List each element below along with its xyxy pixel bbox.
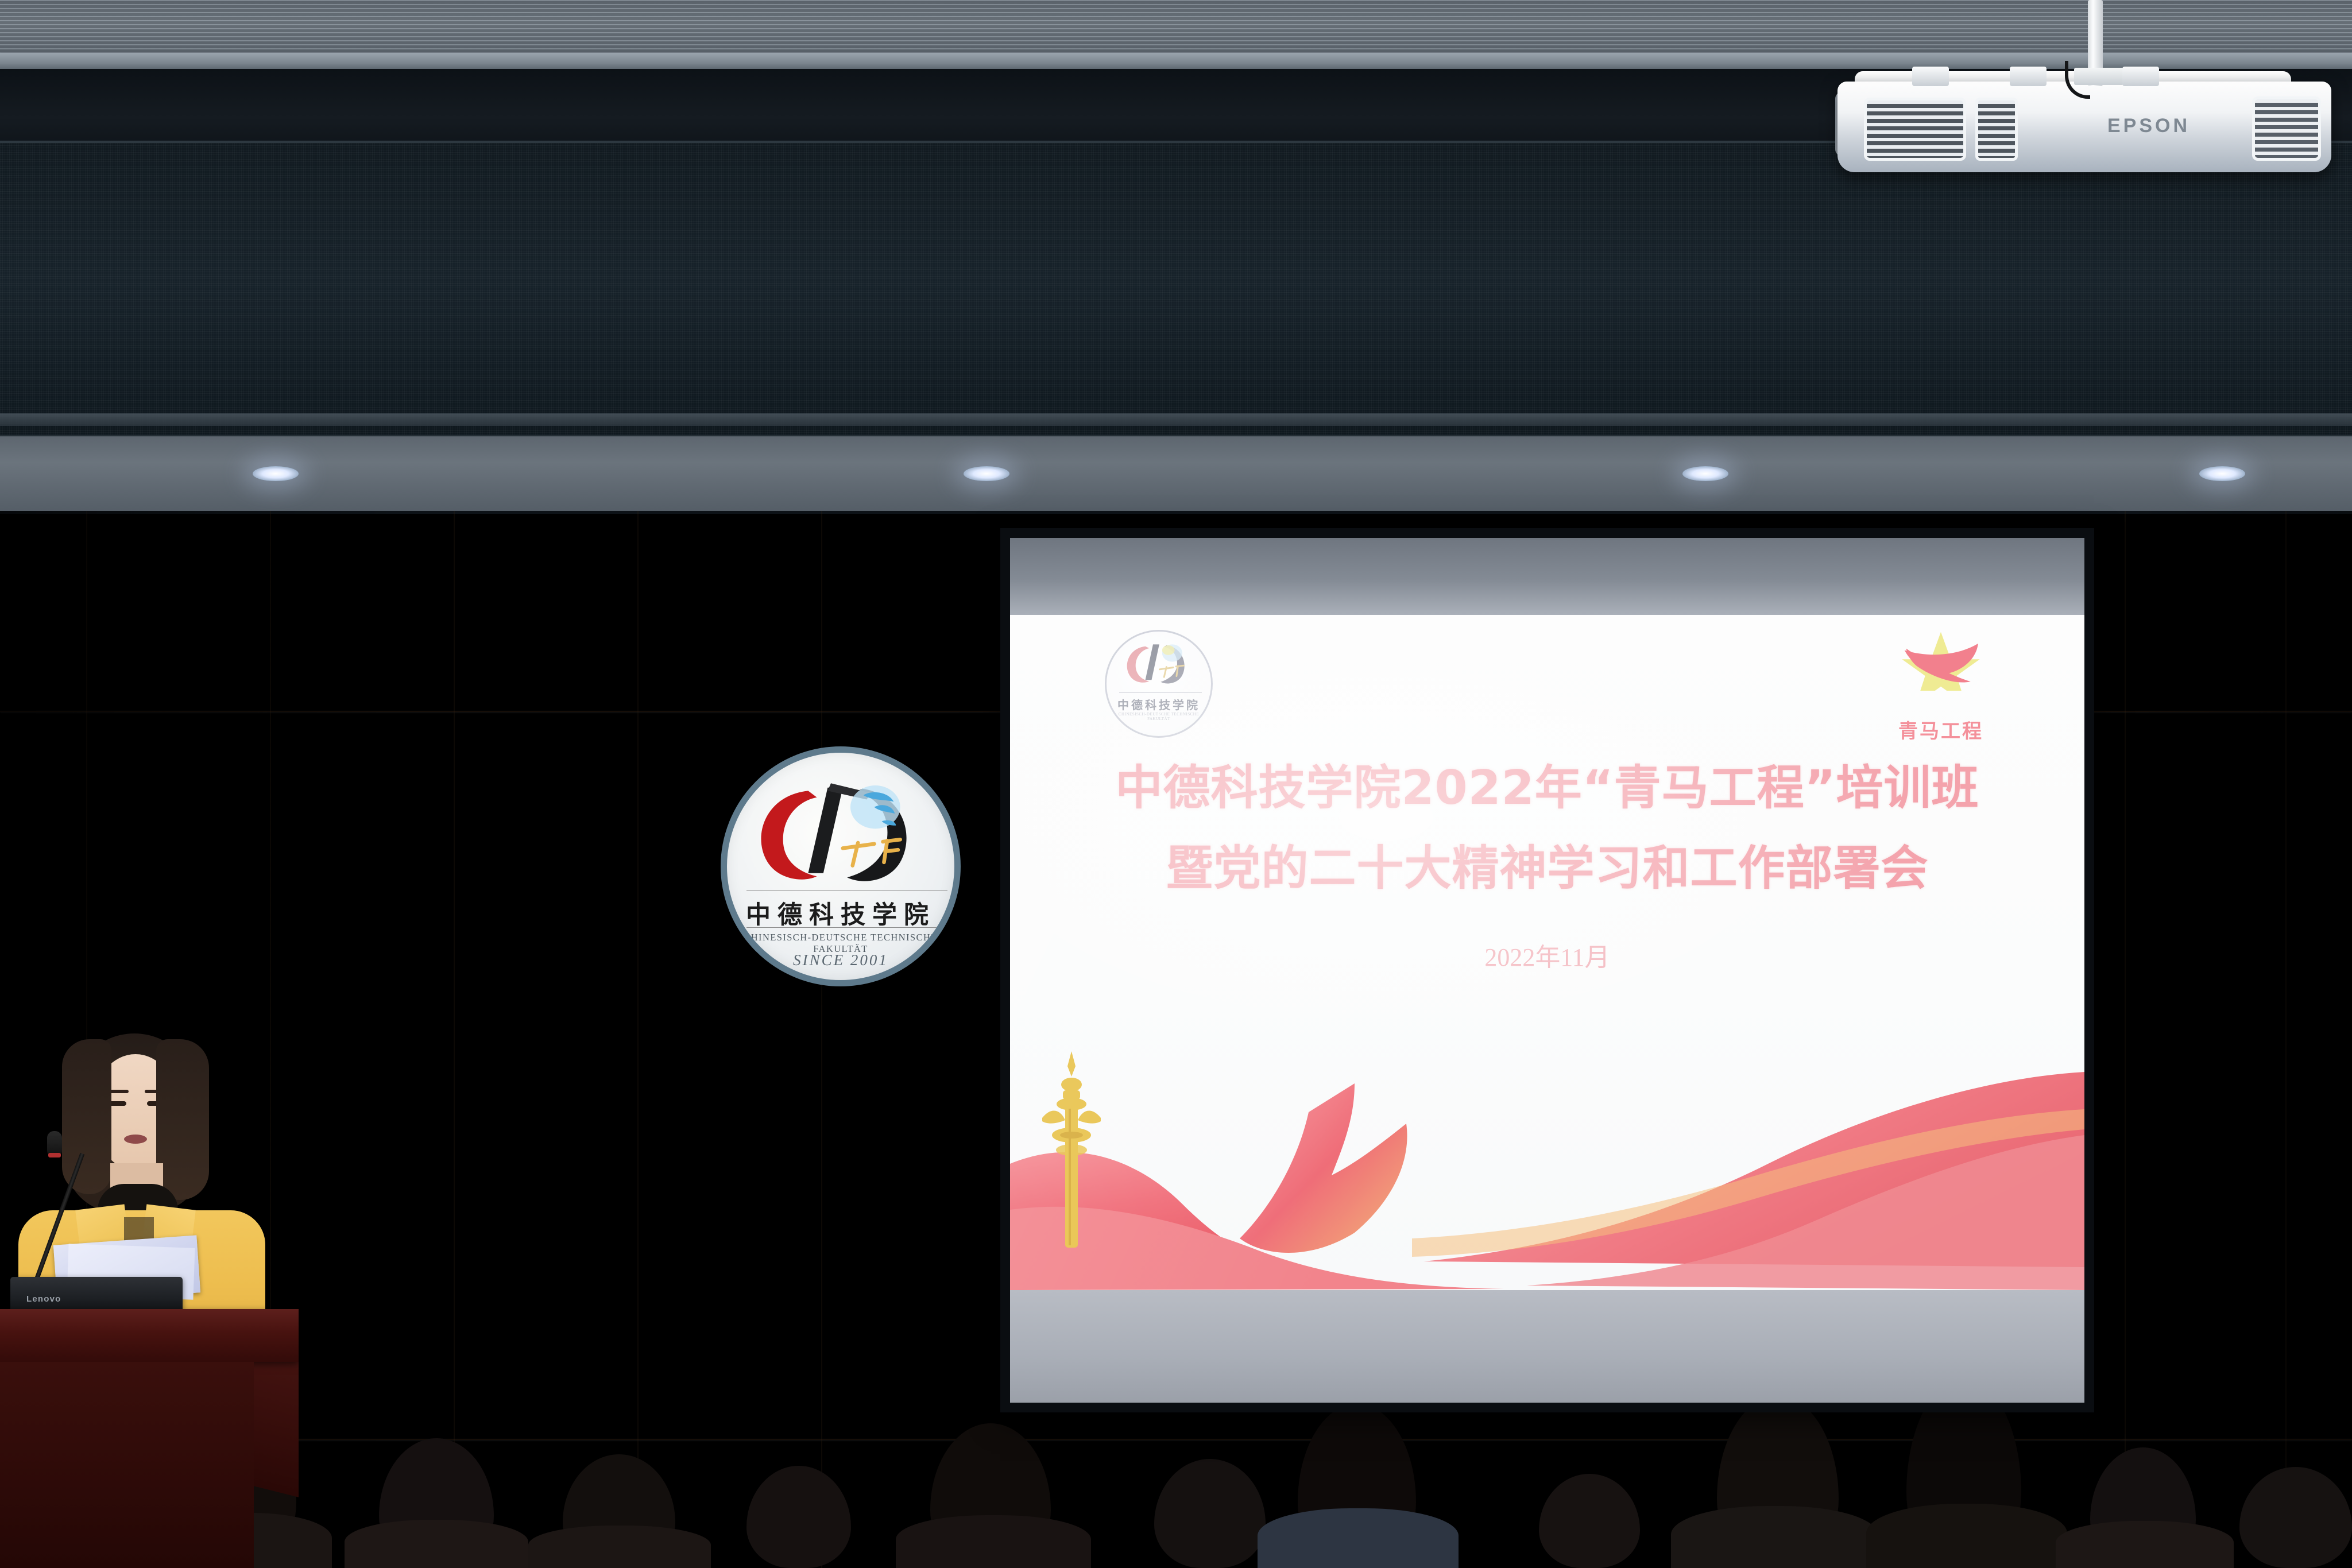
speaker-hair-front-left xyxy=(62,1039,111,1194)
audience-shoulder xyxy=(896,1515,1091,1568)
institute-emblem: 中德科技学院 CHINESISCH-DEUTSCHE TECHNISCHE FA… xyxy=(721,746,961,986)
lecture-hall-scene: 中德科技学院 CHINESISCH-DEUTSCHE TECHNISCHE FA… xyxy=(0,0,2352,1568)
wall-plank-line xyxy=(821,511,822,1568)
microphone-indicator xyxy=(48,1153,61,1157)
podium-top-surface xyxy=(0,1309,299,1362)
wall-plank-line xyxy=(637,511,639,1568)
ceiling-slat-panel xyxy=(0,0,2352,55)
qingma-caption: 青马工程 xyxy=(1878,715,2004,744)
podium-body xyxy=(0,1362,254,1568)
wall-plank-line xyxy=(2285,511,2287,1568)
slide-logo-rule xyxy=(1119,692,1202,693)
projector-vent-secondary xyxy=(1975,98,2018,161)
projector-mount-arms xyxy=(1912,67,2159,87)
presentation-slide: 中德科技学院 CHINESISCH-DEUTSCHE TECHNISCHE FA… xyxy=(1010,615,2084,1290)
slide-ribbon-art xyxy=(1010,992,2084,1290)
star-swoosh-icon xyxy=(1878,629,2004,691)
screen-letterbox-top xyxy=(1010,538,2084,615)
screen-surface: 中德科技学院 CHINESISCH-DEUTSCHE TECHNISCHE FA… xyxy=(1010,538,2084,1403)
cd-monogram-icon xyxy=(727,772,954,893)
podium-laptop: Lenovo xyxy=(10,1277,183,1313)
epson-projector: EPSON xyxy=(1837,82,2352,185)
projector-brand-label: EPSON xyxy=(2107,115,2190,137)
emblem-rule-top xyxy=(746,891,947,891)
projector-vent-right xyxy=(2252,96,2321,161)
red-silk-ribbon-icon xyxy=(1010,992,2084,1290)
slide-logo-zh: 中德科技学院 xyxy=(1107,696,1211,713)
ceiling-soffit xyxy=(0,436,2352,514)
emblem-since: SINCE 2001 xyxy=(727,951,954,969)
ceiling-led-panel xyxy=(0,141,2352,445)
slide-title-line-2: 暨党的二十大精神学习和工作部署会 xyxy=(1010,830,2084,898)
projection-screen: 中德科技学院 CHINESISCH-DEUTSCHE TECHNISCHE FA… xyxy=(1000,528,2094,1412)
qingma-star-logo: 青马工程 xyxy=(1878,629,2004,744)
slide-institute-logo: 中德科技学院 CHINESISCH-DEUTSCHE TECHNISCHE FA… xyxy=(1105,630,1213,738)
downlight-2 xyxy=(964,466,1009,481)
slide-logo-de: CHINESISCH-DEUTSCHE TECHNISCHE FAKULTÄT xyxy=(1107,712,1211,721)
laptop-brand-label: Lenovo xyxy=(26,1294,61,1304)
emblem-rule-bottom xyxy=(746,927,947,928)
slide-cd-monogram-icon xyxy=(1107,640,1211,692)
screen-letterbox-bottom xyxy=(1010,1290,2084,1403)
wall-plank-line xyxy=(454,511,455,1568)
emblem-zh-name: 中德科技学院 xyxy=(727,895,954,931)
projector-mount-arm xyxy=(2010,67,2047,86)
audience-shoulder xyxy=(528,1526,711,1568)
audience-shoulder xyxy=(2056,1521,2234,1568)
speaker-hair-front-right xyxy=(156,1039,209,1200)
huabiao-column-icon xyxy=(1040,1049,1103,1256)
downlight-1 xyxy=(253,466,299,481)
downlight-4 xyxy=(2199,466,2245,481)
slide-title-line-1: 中德科技学院2022年“青马工程”培训班 xyxy=(1010,749,2084,818)
audience-shoulder xyxy=(1671,1506,1878,1568)
led-panel-edge xyxy=(0,413,2352,426)
audience-shoulder xyxy=(345,1520,528,1568)
wooden-podium xyxy=(0,1309,299,1568)
audience-shoulder xyxy=(1866,1504,2067,1568)
audience-shoulder xyxy=(1258,1508,1459,1568)
downlight-3 xyxy=(1682,466,1728,481)
wall-plank-line xyxy=(2125,511,2126,1568)
speaker-mouth xyxy=(124,1135,147,1144)
projector-mount-arm xyxy=(1912,67,1949,86)
slide-date: 2022年11月 xyxy=(1010,936,2084,973)
projector-mount-arm xyxy=(2122,67,2159,86)
projector-vent xyxy=(1864,98,1966,161)
speaker-eye-left xyxy=(109,1101,126,1106)
